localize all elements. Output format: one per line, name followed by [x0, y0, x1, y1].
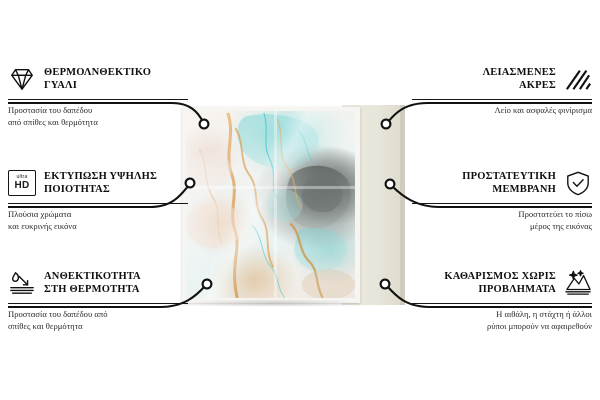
feature-description: Η αιθάλη, η στάχτη ή άλλοι ρύποι μπορούν…	[412, 309, 592, 332]
feature-title: ΠΡΟΣΤΑΤΕΥΤΙΚΗ ΜΕΜΒΡΑΝΗ	[462, 170, 556, 196]
feature-divider	[8, 99, 188, 100]
feature-header: ΚΑΘΑΡΙΣΜΟΣ ΧΩΡΙΣ ΠΡΟΒΛΗΜΑΤΑ	[412, 266, 592, 300]
feature-protective-membrane[interactable]: ΠΡΟΣΤΑΤΕΥΤΙΚΗ ΜΕΜΒΡΑΝΗ Προστατεύει το πί…	[412, 166, 592, 232]
feature-title: ΕΚΤΥΠΩΣΗ ΥΨΗΛΗΣ ΠΟΙΟΤΗΤΑΣ	[44, 170, 157, 196]
feature-header: ΛΕΙΑΣΜΕΝΕΣ ΑΚΡΕΣ	[412, 62, 592, 96]
feature-divider	[412, 203, 592, 204]
infographic-canvas: ΘΕΡΜΟΛΝΘΕΚΤΙΚΟ ΓΥΑΛΙ Προστασία του δαπέδ…	[0, 0, 600, 400]
feature-polished-edges[interactable]: ΛΕΙΑΣΜΕΝΕΣ ΑΚΡΕΣ Λείο και ασφαλές φινίρι…	[412, 62, 592, 117]
glass-splashback-panel	[182, 107, 360, 303]
ultra-hd-badge-big-text: HD	[14, 181, 29, 191]
feature-divider	[8, 203, 188, 204]
panel-drop-shadow	[184, 299, 364, 307]
feature-heat-durability[interactable]: ΑΝΘΕΚΤΙΚΟΤΗΤΑ ΣΤΗ ΘΕΡΜΟΤΗΤΑ Προστασία το…	[8, 266, 188, 332]
diamond-icon	[8, 66, 36, 92]
feature-divider	[412, 303, 592, 304]
feature-description: Προστασία του δαπέδου από σπίθες και θερ…	[8, 105, 188, 128]
feature-high-quality-print[interactable]: ultra HD ΕΚΤΥΠΩΣΗ ΥΨΗΛΗΣ ΠΟΙΟΤΗΤΑΣ Πλούσ…	[8, 166, 188, 232]
background-wall-panel-edge	[400, 105, 405, 305]
feature-description: Προστασία του δαπέδου από σπίθες και θερ…	[8, 309, 188, 332]
feature-header: ΠΡΟΣΤΑΤΕΥΤΙΚΗ ΜΕΜΒΡΑΝΗ	[412, 166, 592, 200]
feature-description: Πλούσια χρώματα και ευκρινής εικόνα	[8, 209, 188, 232]
abstract-ink-artwork	[186, 111, 355, 298]
feature-description: Προστατεύει το πίσω μέρος της εικόνας	[412, 209, 592, 232]
feature-header: ΘΕΡΜΟΛΝΘΕΚΤΙΚΟ ΓΥΑΛΙ	[8, 62, 188, 96]
feature-title: ΚΑΘΑΡΙΣΜΟΣ ΧΩΡΙΣ ΠΡΟΒΛΗΜΑΤΑ	[444, 270, 556, 296]
feature-heat-resistant-glass[interactable]: ΘΕΡΜΟΛΝΘΕΚΤΙΚΟ ΓΥΑΛΙ Προστασία του δαπέδ…	[8, 62, 188, 128]
shield-check-icon	[564, 170, 592, 196]
polished-edge-icon	[564, 66, 592, 92]
flame-deflect-icon	[8, 270, 36, 296]
sparkle-clean-icon	[564, 270, 592, 296]
product-scene	[182, 107, 398, 303]
feature-divider	[412, 99, 592, 100]
feature-description: Λείο και ασφαλές φινίρισμα	[412, 105, 592, 116]
feature-header: ΑΝΘΕΚΤΙΚΟΤΗΤΑ ΣΤΗ ΘΕΡΜΟΤΗΤΑ	[8, 266, 188, 300]
ultra-hd-badge-icon: ultra HD	[8, 170, 36, 196]
feature-header: ultra HD ΕΚΤΥΠΩΣΗ ΥΨΗΛΗΣ ΠΟΙΟΤΗΤΑΣ	[8, 166, 188, 200]
feature-title: ΛΕΙΑΣΜΕΝΕΣ ΑΚΡΕΣ	[483, 66, 556, 92]
feature-title: ΘΕΡΜΟΛΝΘΕΚΤΙΚΟ ΓΥΑΛΙ	[44, 66, 151, 92]
feature-easy-cleaning[interactable]: ΚΑΘΑΡΙΣΜΟΣ ΧΩΡΙΣ ΠΡΟΒΛΗΜΑΤΑ Η αιθάλη, η …	[412, 266, 592, 332]
feature-title: ΑΝΘΕΚΤΙΚΟΤΗΤΑ ΣΤΗ ΘΕΡΜΟΤΗΤΑ	[44, 270, 141, 296]
feature-divider	[8, 303, 188, 304]
